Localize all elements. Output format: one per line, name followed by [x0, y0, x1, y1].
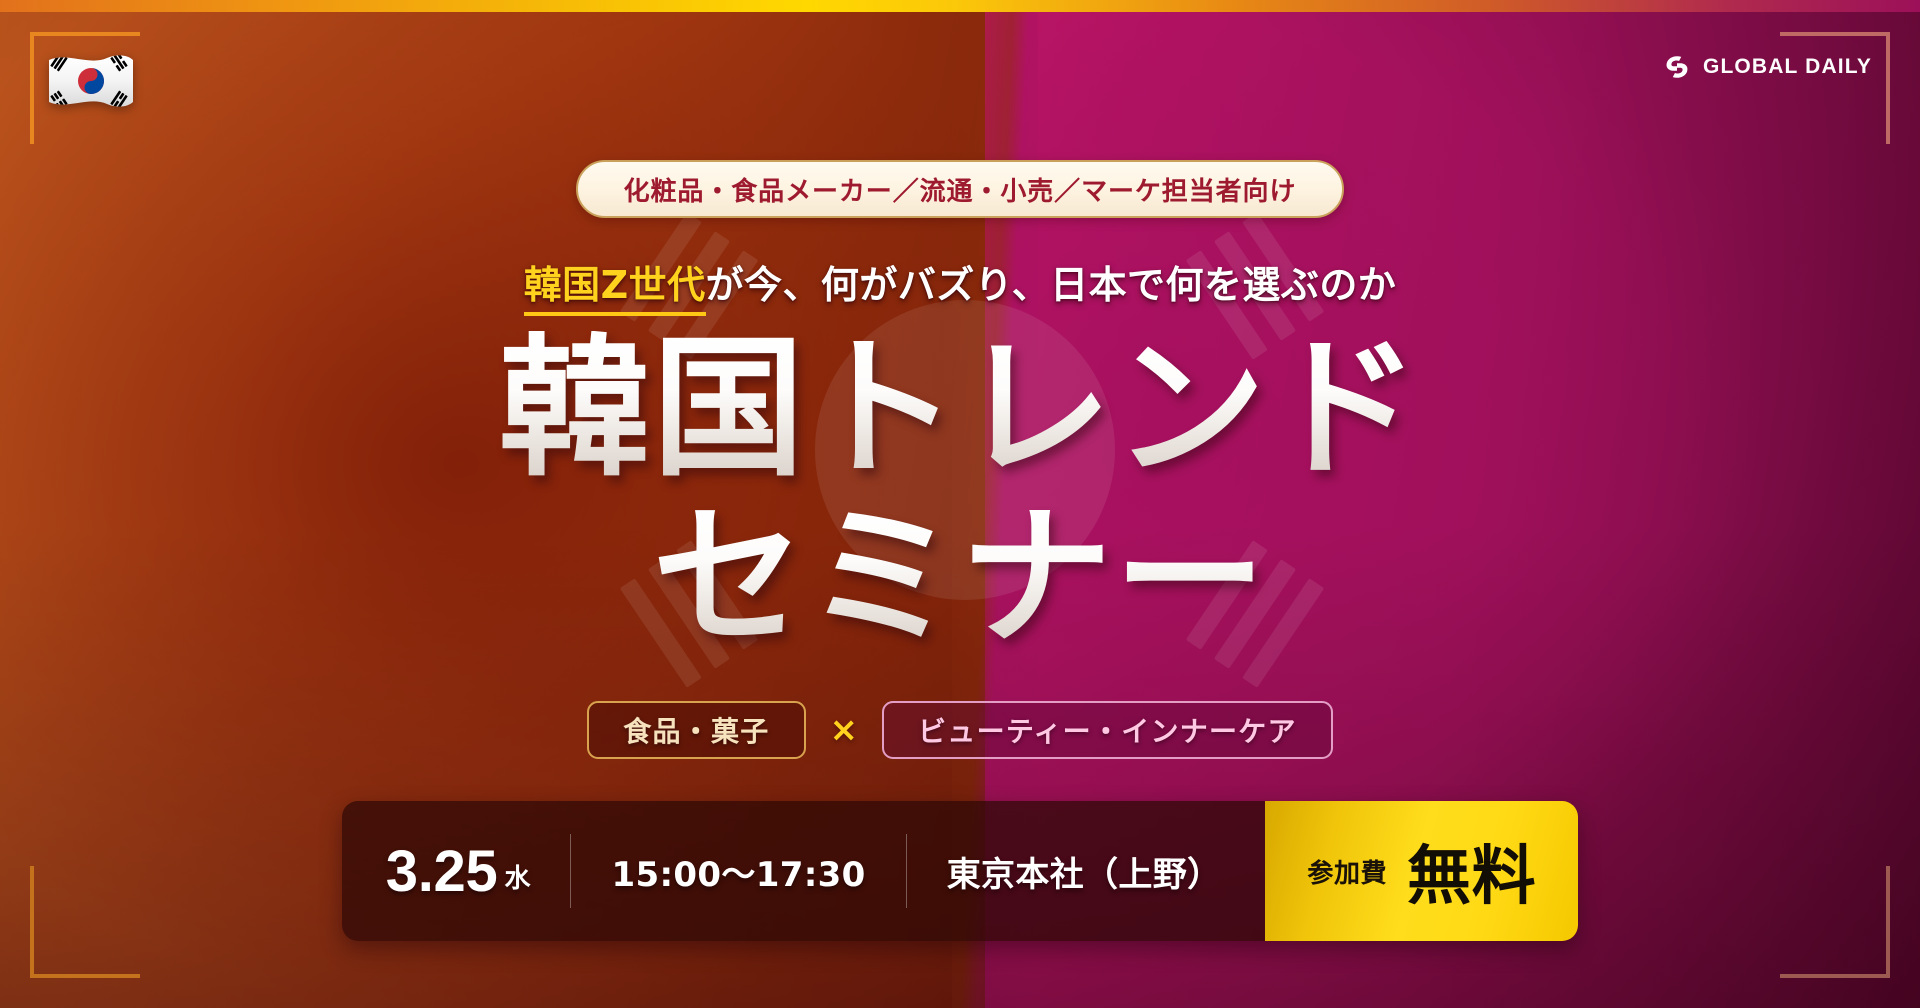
event-info-dark-section: 3.25 水 15:00〜17:30 東京本社（上野） — [342, 801, 1266, 941]
gd-monogram-icon — [1662, 52, 1692, 82]
event-date: 3.25 水 — [346, 838, 571, 905]
subtitle-highlight: 韓国Z世代 — [524, 263, 706, 316]
event-fee-label: 参加費 — [1307, 853, 1387, 890]
audience-pill: 化粧品・食品メーカー／流通・小売／マーケ担当者向け — [576, 160, 1345, 218]
headline-line-2: セミナー — [499, 500, 1422, 655]
tag-beauty: ビューティー・インナーケア — [882, 701, 1333, 759]
brand-logo[interactable]: GLOBAL DAILY — [1662, 52, 1872, 82]
page-title: 韓国トレンド セミナー — [499, 331, 1422, 655]
event-venue: 東京本社（上野） — [907, 847, 1262, 896]
event-time: 15:00〜17:30 — [571, 847, 905, 896]
event-date-weekday: 水 — [504, 858, 530, 905]
event-fee-value: 無料 — [1407, 825, 1536, 917]
tag-food: 食品・菓子 — [587, 701, 805, 759]
event-info-bar: 3.25 水 15:00〜17:30 東京本社（上野） 参加費 無料 — [342, 801, 1579, 941]
brand-name: GLOBAL DAILY — [1703, 55, 1872, 79]
banner-content: 化粧品・食品メーカー／流通・小売／マーケ担当者向け 韓国Z世代が今、何がバズり、… — [0, 0, 1920, 1008]
south-korea-flag-svg — [45, 48, 137, 114]
seminar-banner: GLOBAL DAILY 化粧品・食品メーカー／流通・小売／マーケ担当者向け 韓… — [0, 0, 1920, 1008]
event-venue-text: 東京本社（上野） — [947, 847, 1222, 896]
top-accent-bar — [0, 0, 1920, 12]
headline-line-1: 韓国トレンド — [499, 331, 1422, 486]
tag-separator-x: × — [830, 710, 859, 750]
south-korea-flag-icon — [45, 48, 137, 114]
event-date-number: 3.25 — [386, 838, 498, 905]
event-time-text: 15:00〜17:30 — [611, 847, 865, 896]
event-fee-block: 参加費 無料 — [1265, 801, 1578, 941]
audience-pill-text: 化粧品・食品メーカー／流通・小売／マーケ担当者向け — [624, 171, 1297, 208]
subtitle: 韓国Z世代が今、何がバズり、日本で何を選ぶのか — [524, 254, 1397, 309]
category-tags: 食品・菓子 × ビューティー・インナーケア — [587, 701, 1333, 759]
subtitle-rest: が今、何がバズり、日本で何を選ぶのか — [706, 263, 1397, 307]
